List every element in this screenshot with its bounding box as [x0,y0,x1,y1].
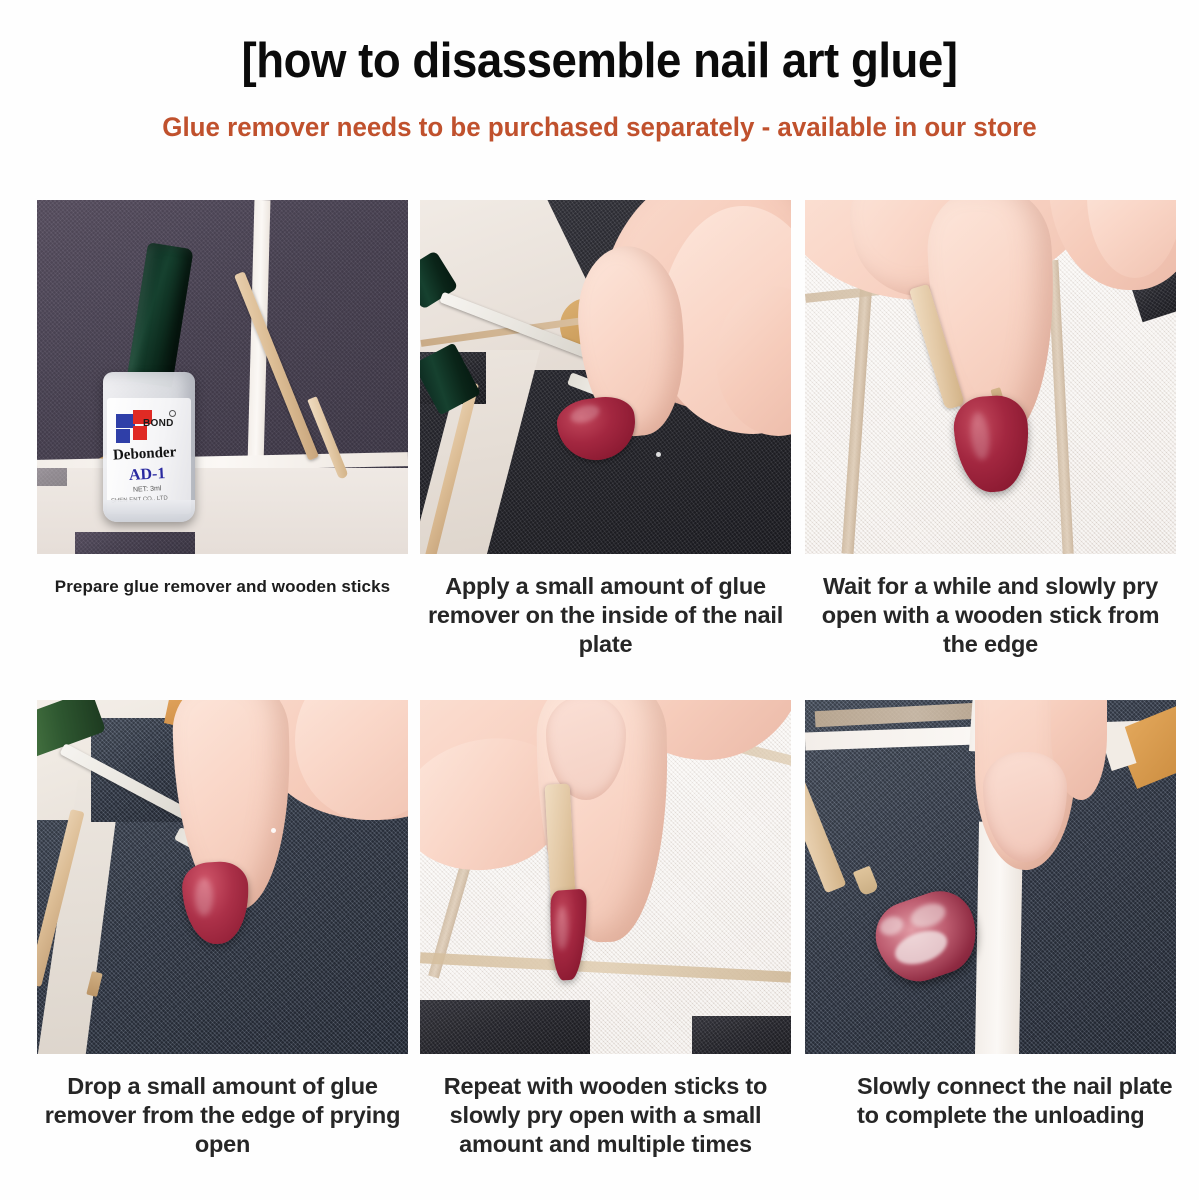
bottle-name-text: Debonder [113,444,177,464]
step-photo-6 [805,700,1176,1054]
step-caption-2: Apply a small amount of glue remover on … [420,572,791,659]
step-photo-3 [805,200,1176,554]
step-caption-1: Prepare glue remover and wooden sticks [37,576,408,598]
steps-grid: BOND Debonder AD-1 NET: 3ml SHEN ENT CO.… [37,200,1171,1177]
step-card-4: Drop a small amount of glue remover from… [37,700,408,1159]
steps-row-1: BOND Debonder AD-1 NET: 3ml SHEN ENT CO.… [37,200,1171,677]
step-caption-3: Wait for a while and slowly pry open wit… [805,572,1176,659]
how-to-guide-page: [how to disassemble nail art glue] Glue … [0,0,1199,1200]
bottle-net-text: NET: 3ml [133,485,162,493]
page-subtitle: Glue remover needs to be purchased separ… [24,110,1175,144]
step-card-1: BOND Debonder AD-1 NET: 3ml SHEN ENT CO.… [37,200,408,598]
step-photo-1: BOND Debonder AD-1 NET: 3ml SHEN ENT CO.… [37,200,408,554]
bottle-code-text: AD-1 [129,465,166,485]
step-card-2: Apply a small amount of glue remover on … [420,200,791,659]
step-card-3: Wait for a while and slowly pry open wit… [805,200,1176,659]
step-photo-4 [37,700,408,1054]
step-caption-4: Drop a small amount of glue remover from… [37,1072,408,1159]
step-caption-6: Slowly connect the nail plate to complet… [805,1072,1176,1130]
bottle-brand-text: BOND [143,418,174,429]
step-photo-2 [420,200,791,554]
page-title: [how to disassemble nail art glue] [42,32,1157,90]
bottle-label: BOND Debonder AD-1 NET: 3ml SHEN ENT CO.… [107,398,191,514]
step-card-5: Repeat with wooden sticks to slowly pry … [420,700,791,1159]
steps-row-2: Drop a small amount of glue remover from… [37,700,1171,1177]
step-card-6: Slowly connect the nail plate to complet… [805,700,1176,1130]
step-caption-5: Repeat with wooden sticks to slowly pry … [420,1072,791,1159]
step-photo-5 [420,700,791,1054]
